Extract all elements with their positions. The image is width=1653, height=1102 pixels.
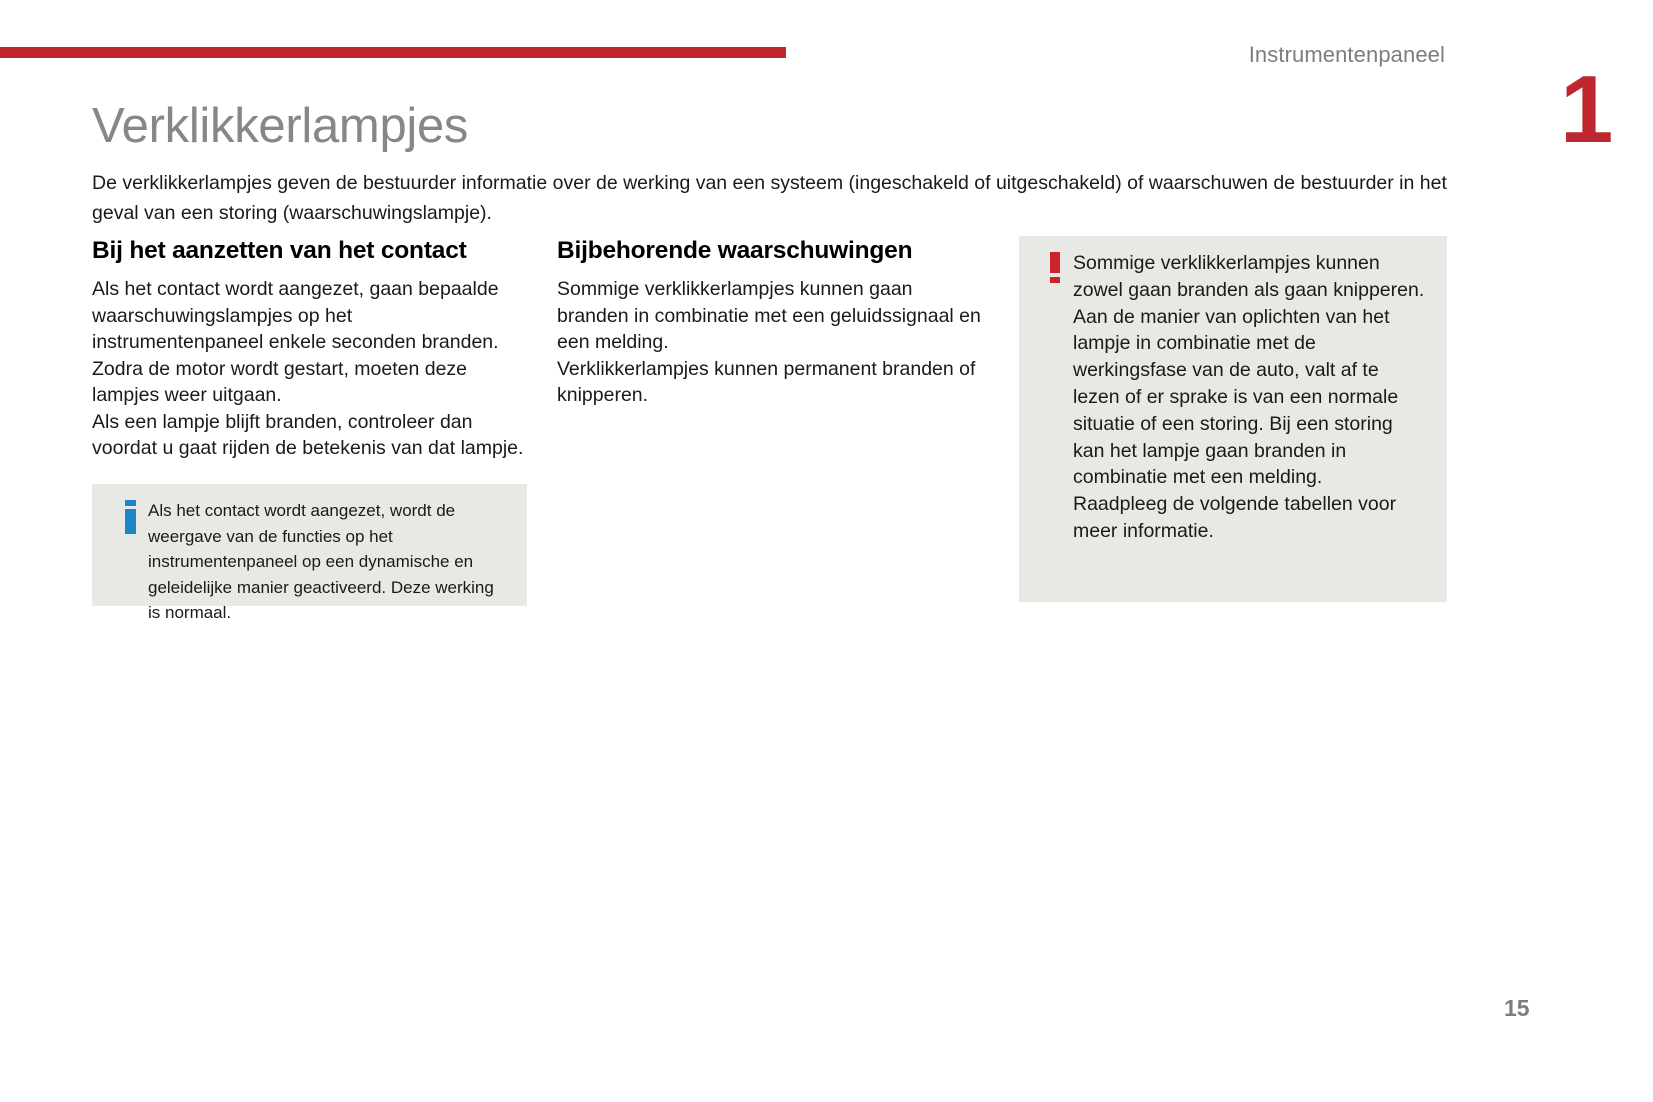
paragraph: Verklikkerlampjes kunnen permanent brand… [557, 356, 989, 409]
content-column-one: Bij het aanzetten van het contact Als he… [92, 236, 524, 462]
header-accent-rule [0, 47, 786, 58]
chapter-title: Instrumentenpaneel [1249, 42, 1445, 68]
info-callout-box: Als het contact wordt aangezet, wordt de… [92, 484, 527, 606]
warning-icon-dot [1050, 277, 1060, 283]
info-icon-stem [125, 509, 136, 534]
info-icon [112, 498, 148, 534]
warning-exclamation-icon [1037, 250, 1073, 283]
warning-icon-glyph [1050, 252, 1060, 283]
paragraph: Als het contact wordt aangezet, gaan bep… [92, 276, 524, 409]
column-one-heading: Bij het aanzetten van het contact [92, 236, 524, 266]
paragraph: Als het contact wordt aangezet, wordt de… [148, 498, 509, 626]
content-column-two: Bijbehorende waarschuwingen Sommige verk… [557, 236, 989, 409]
column-one-body: Als het contact wordt aangezet, gaan bep… [92, 276, 524, 462]
warning-icon-bar [1050, 252, 1060, 273]
paragraph: Als een lampje blijft branden, controlee… [92, 409, 524, 462]
info-callout-text: Als het contact wordt aangezet, wordt de… [148, 498, 509, 626]
info-icon-glyph [125, 500, 136, 534]
column-two-heading: Bijbehorende waarschuwingen [557, 236, 989, 266]
chapter-number-marker: 1 [1560, 62, 1613, 158]
intro-paragraph: De verklikkerlampjes geven de bestuurder… [92, 168, 1452, 228]
warning-callout-box: Sommige verklikkerlampjes kunnen zowel g… [1019, 236, 1447, 602]
page-number: 15 [1504, 995, 1530, 1022]
info-icon-dot [125, 500, 136, 506]
paragraph: Raadpleeg de volgende tabellen voor meer… [1073, 491, 1429, 545]
warning-callout-text: Sommige verklikkerlampjes kunnen zowel g… [1073, 250, 1429, 545]
paragraph: Aan de manier van oplichten van het lamp… [1073, 304, 1429, 492]
column-two-body: Sommige verklikkerlampjes kunnen gaan br… [557, 276, 989, 409]
paragraph: Sommige verklikkerlampjes kunnen zowel g… [1073, 250, 1429, 304]
paragraph: Sommige verklikkerlampjes kunnen gaan br… [557, 276, 989, 356]
page-title: Verklikkerlampjes [92, 98, 468, 154]
